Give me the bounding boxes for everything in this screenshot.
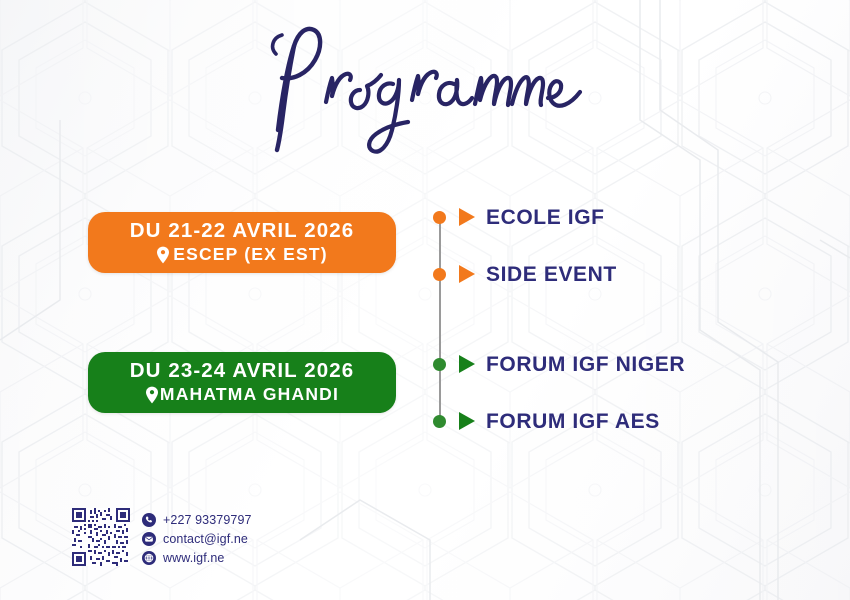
timeline-dot-icon (433, 415, 446, 428)
page-title: Programme (0, 18, 850, 163)
timeline-dot-icon (433, 358, 446, 371)
qr-code[interactable] (72, 508, 130, 566)
badge-date-2: DU 23-24 AVRIL 2026 (130, 361, 354, 382)
badge-session-2[interactable]: DU 23-24 AVRIL 2026 MAHATMA GHANDI (88, 352, 396, 413)
timeline-item-label: ECOLE IGF (486, 207, 605, 228)
timeline-item-label: FORUM IGF AES (486, 411, 660, 432)
badge-place-2: MAHATMA GHANDI (160, 386, 339, 404)
play-triangle-icon (459, 265, 475, 283)
phone-icon (142, 513, 156, 527)
contact-list: +227 93379797 contact@igf.ne www.igf.ne (142, 508, 252, 565)
badge-place-row-2: MAHATMA GHANDI (145, 386, 339, 404)
timeline-connector-line (439, 217, 441, 421)
location-pin-icon (156, 246, 170, 264)
footer-contact-block: +227 93379797 contact@igf.ne www.igf.ne (72, 508, 252, 566)
badge-place-1: ESCEP (EX EST) (173, 246, 328, 264)
contact-website[interactable]: www.igf.ne (142, 551, 252, 565)
contact-phone-text: +227 93379797 (163, 514, 252, 527)
poster-canvas: Programme (0, 0, 850, 600)
badge-place-row-1: ESCEP (EX EST) (156, 246, 328, 264)
timeline-item-ecole-igf[interactable]: ECOLE IGF (425, 204, 605, 230)
timeline-item-forum-igf-aes[interactable]: FORUM IGF AES (425, 408, 660, 434)
email-icon (142, 532, 156, 546)
contact-website-text: www.igf.ne (163, 552, 224, 565)
play-triangle-icon (459, 412, 475, 430)
globe-icon (142, 551, 156, 565)
play-triangle-icon (459, 208, 475, 226)
contact-email[interactable]: contact@igf.ne (142, 532, 252, 546)
play-triangle-icon (459, 355, 475, 373)
page-title-script: Programme (260, 18, 590, 158)
contact-email-text: contact@igf.ne (163, 533, 248, 546)
timeline-item-label: SIDE EVENT (486, 264, 617, 285)
contact-phone[interactable]: +227 93379797 (142, 513, 252, 527)
timeline: ECOLE IGF SIDE EVENT FORUM IGF NIGER FOR… (425, 195, 755, 445)
badge-date-1: DU 21-22 AVRIL 2026 (130, 221, 354, 242)
badge-session-1[interactable]: DU 21-22 AVRIL 2026 ESCEP (EX EST) (88, 212, 396, 273)
timeline-item-label: FORUM IGF NIGER (486, 354, 685, 375)
location-pin-icon (145, 386, 159, 404)
timeline-item-forum-igf-niger[interactable]: FORUM IGF NIGER (425, 351, 685, 377)
timeline-dot-icon (433, 211, 446, 224)
timeline-dot-icon (433, 268, 446, 281)
timeline-item-side-event[interactable]: SIDE EVENT (425, 261, 617, 287)
